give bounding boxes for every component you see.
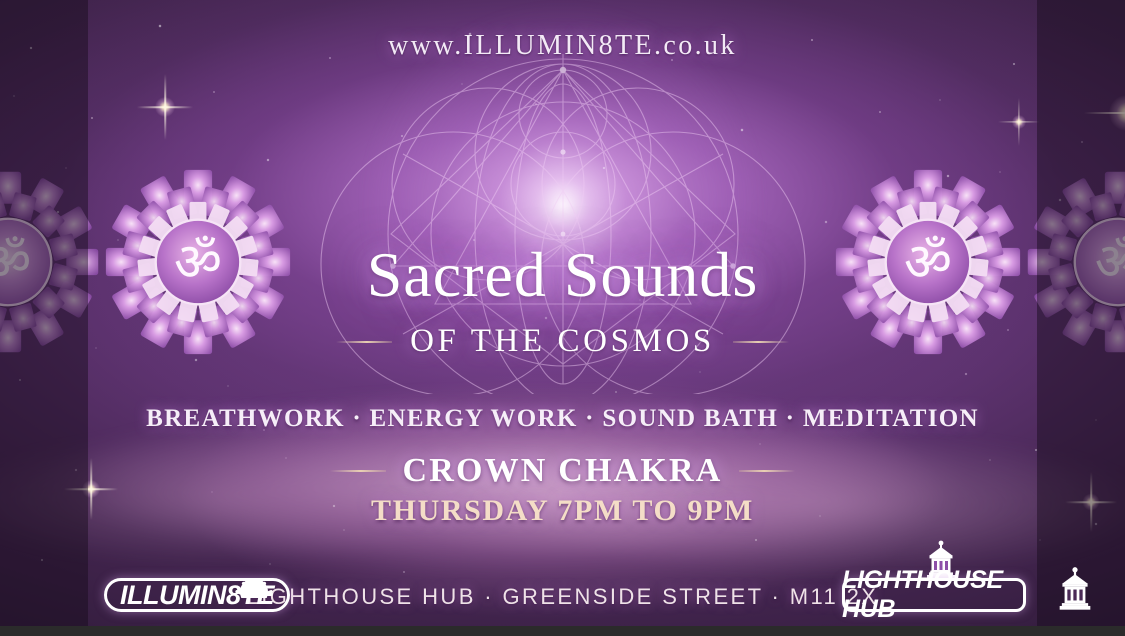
title-block: Sacred Sounds OF THE COSMOS: [0, 243, 1125, 360]
website-url[interactable]: www.ILLUMIN8TE.co.uk: [0, 30, 1125, 62]
poster-canvas: ॐ: [0, 0, 1125, 636]
rule-left-icon: [336, 341, 392, 343]
chakra-rule-left-icon: [330, 470, 386, 472]
lighthouse-hub-logo-label: LIGHTHOUSE HUB: [842, 578, 1026, 612]
chakra-name: CROWN CHAKRA: [402, 452, 722, 490]
page-title: Sacred Sounds: [0, 243, 1125, 307]
services-list: BREATHWORK · ENERGY WORK · SOUND BATH · …: [0, 405, 1125, 433]
event-time: THURSDAY 7PM TO 9PM: [0, 494, 1125, 528]
chakra-row: CROWN CHAKRA: [0, 452, 1125, 490]
illumin8te-logo[interactable]: ILLUMIN8TE: [104, 570, 290, 612]
page-subtitle: OF THE COSMOS: [410, 323, 715, 360]
chakra-rule-right-icon: [739, 470, 795, 472]
lighthouse-hub-logo[interactable]: LIGHTHOUSE HUB: [842, 542, 1026, 614]
rule-right-icon: [733, 341, 789, 343]
illumin8te-logo-label: ILLUMIN8TE: [104, 578, 290, 612]
lighthouse-icon: [1052, 566, 1098, 624]
bottom-letterbox-bar: [0, 626, 1125, 636]
subtitle-row: OF THE COSMOS: [0, 323, 1125, 360]
